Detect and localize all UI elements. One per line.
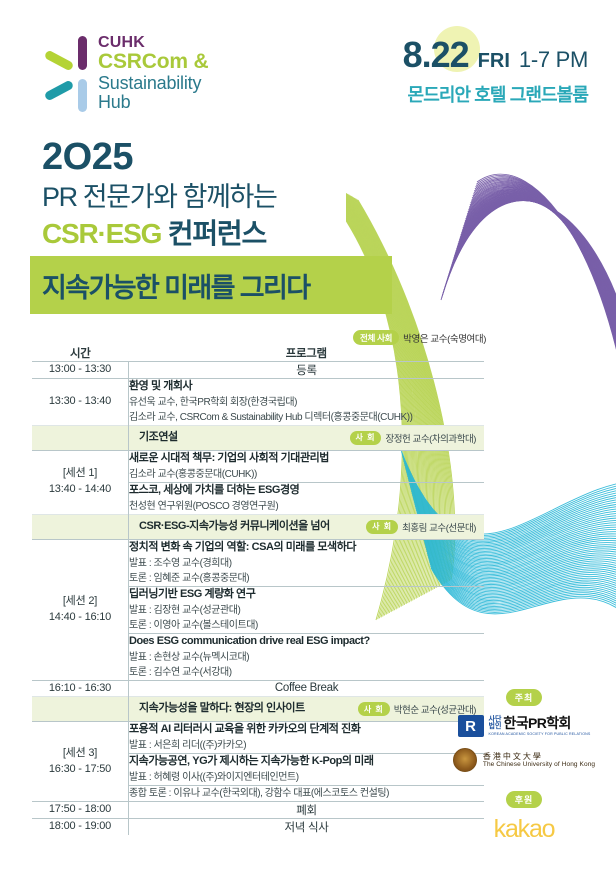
row-time: 16:10 - 16:30 <box>32 680 129 697</box>
program-title: 환영 및 개회사 <box>129 379 484 395</box>
row-program-cell: 새로운 시대적 책무: 기업의 사회적 기대관리법김소라 교수(홍콩중문대(CU… <box>129 450 485 482</box>
row-time <box>32 697 129 722</box>
table-header-row: 시간프로그램 <box>32 345 484 362</box>
row-program-cell: 딥러닝기반 ESG 계량화 연구발표 : 김장현 교수(성균관대)토론 : 이영… <box>129 586 485 633</box>
row-program-cell: 정치적 변화 속 기업의 역할: CSA의 미래를 모색하다발표 : 조수영 교… <box>129 539 485 586</box>
event-venue: 몬드리안 호텔 그랜드볼룸 <box>403 81 588 107</box>
program-speaker: 김소라 교수(홍콩중문대(CUHK)) <box>129 467 484 482</box>
row-program-cell: Does ESG communication drive real ESG im… <box>129 633 485 680</box>
host-badge: 주최 <box>506 689 543 706</box>
row-program-center: Coffee Break <box>129 680 485 697</box>
table-row: 13:30 - 13:40환영 및 개회사유선욱 교수, 한국PR학회 회장(한… <box>32 379 484 426</box>
poster-header: CUHK CSRCom & Sustainability Hub 8.22 FR… <box>0 0 616 135</box>
row-program-center: 폐회 <box>129 802 485 819</box>
session-header-cell: CSR·ESG-지속가능성 커뮤니케이션을 넘어사 회최홍림 교수(선문대) <box>129 515 484 539</box>
cuhk-logo: 香港中文大學 The Chinese University of Hong Ko… <box>454 748 594 772</box>
sponsors-block: 주최 R 사단법인한국PR학회 KOREAN ACADEMIC SOCIETY … <box>454 688 594 844</box>
row-time: 18:00 - 19:00 <box>32 819 129 836</box>
cuhk-name-english: The Chinese University of Hong Kong <box>483 761 595 768</box>
overall-mc-badge: 전체 사회 <box>353 330 399 345</box>
event-weekday: FRI <box>478 50 510 73</box>
session-chair-badge: 사 회 <box>350 431 382 445</box>
kpr-name-english: KOREAN ACADEMIC SOCIETY FOR PUBLIC RELAT… <box>489 733 591 737</box>
title-slogan-band: 지속가능한 미래를 그리다 <box>30 256 392 314</box>
session-chair: 사 회장정헌 교수(차의과학대) <box>350 431 476 445</box>
cuhk-name-chinese: 香港中文大學 <box>483 752 595 761</box>
overall-mc-line: 전체 사회 박영은 교수(숙명여대) <box>0 330 486 345</box>
row-time: [세션 2]14:40 - 16:10 <box>32 539 129 680</box>
session-chair: 사 회최홍림 교수(선문대) <box>366 520 476 534</box>
title-year: 2O25 <box>42 138 276 178</box>
program-title: 새로운 시대적 책무: 기업의 사회적 기대관리법 <box>129 451 484 467</box>
program-table: 시간프로그램13:00 - 13:30등록13:30 - 13:40환영 및 개… <box>32 345 484 835</box>
row-program-cell: 환영 및 개회사유선욱 교수, 한국PR학회 회장(한경국립대)김소라 교수, … <box>129 379 485 426</box>
program-speaker: 발표 : 손현상 교수(뉴멕시코대) <box>129 650 484 665</box>
kpr-name: 한국PR학회 <box>503 715 570 731</box>
header-time: 시간 <box>32 345 129 362</box>
program-title: 포용적 AI 리터러시 교육을 위한 카카오의 단계적 진화 <box>129 722 484 738</box>
support-badge: 후원 <box>506 791 543 808</box>
program-speaker: 유선욱 교수, 한국PR학회 회장(한경국립대) <box>129 395 484 410</box>
session-header-cell: 지속가능성을 말하다: 현장의 인사이트사 회박현순 교수(성균관대) <box>129 697 484 721</box>
program-title: 정치적 변화 속 기업의 역할: CSA의 미래를 모색하다 <box>129 540 484 556</box>
logo-line-hub: Hub <box>98 93 208 112</box>
session-title: 지속가능성을 말하다: 현장의 인사이트 <box>139 701 305 717</box>
table-row: [세션 1]13:40 - 14:40새로운 시대적 책무: 기업의 사회적 기… <box>32 450 484 482</box>
hub-logo-text: CUHK CSRCom & Sustainability Hub <box>98 34 208 113</box>
logo-bar-teal-icon <box>44 79 75 101</box>
row-time <box>32 514 129 539</box>
session-title: CSR·ESG-지속가능성 커뮤니케이션을 넘어 <box>139 519 330 535</box>
table-row: 18:00 - 19:00저녁 식사 <box>32 819 484 836</box>
session-title: 기조연설 <box>139 430 178 446</box>
row-program-cell: 지속가능공연, YG가 제시하는 지속가능한 K-Pop의 미래발표 : 허혜령… <box>129 754 485 786</box>
title-main-accent: CSR·ESG <box>42 218 161 249</box>
session-chair-badge: 사 회 <box>358 702 390 716</box>
row-program-cell: 종합 토론 : 이유나 교수(한국외대), 강함수 대표(에스코토스 컨설팅) <box>129 786 485 802</box>
overall-mc-name: 박영은 교수(숙명여대) <box>403 331 486 345</box>
cuhk-seal-icon <box>453 748 477 772</box>
title-main-rest: 컨퍼런스 <box>161 218 266 249</box>
row-time: [세션 1]13:40 - 14:40 <box>32 450 129 514</box>
program-speaker: 발표 : 서은희 리더((주)카카오) <box>129 738 484 753</box>
row-time: 13:30 - 13:40 <box>32 379 129 426</box>
hub-logo-mark-icon <box>42 34 92 116</box>
logo-line-cuhk: CUHK <box>98 34 208 51</box>
row-program-center: 등록 <box>129 362 485 379</box>
session-header-row: 지속가능성을 말하다: 현장의 인사이트사 회박현순 교수(성균관대) <box>32 697 484 722</box>
row-time: 13:00 - 13:30 <box>32 362 129 379</box>
table-row: [세션 3]16:30 - 17:50포용적 AI 리터러시 교육을 위한 카카… <box>32 722 484 754</box>
program-title: 지속가능공연, YG가 제시하는 지속가능한 K-Pop의 미래 <box>129 754 484 770</box>
logo-bar-green-icon <box>44 49 75 71</box>
program-speaker: 토론 : 이영아 교수(볼스테이트대) <box>129 618 484 633</box>
table-row: 17:50 - 18:00폐회 <box>32 802 484 819</box>
poster-title: 2O25 PR 전문가와 함께하는 CSR·ESG 컨퍼런스 <box>42 138 276 252</box>
row-program-center: 저녁 식사 <box>129 819 485 836</box>
row-time <box>32 425 129 450</box>
logo-line-csrcom: CSRCom & <box>98 51 208 74</box>
program-speaker: 토론 : 임혜준 교수(홍콩중문대) <box>129 571 484 586</box>
program-speaker: 김소라 교수, CSRCom & Sustainability Hub 디렉터(… <box>129 410 484 425</box>
event-date: 8.22 <box>403 34 469 76</box>
session-header-cell: 기조연설사 회장정헌 교수(차의과학대) <box>129 426 484 450</box>
program-speaker: 발표 : 김장현 교수(성균관대) <box>129 603 484 618</box>
event-time: 1-7 PM <box>519 47 588 73</box>
table-row: [세션 2]14:40 - 16:10정치적 변화 속 기업의 역할: CSA의… <box>32 539 484 586</box>
logo-bar-blue-icon <box>78 79 87 112</box>
program-title: 포스코, 세상에 가치를 더하는 ESG경영 <box>129 483 484 499</box>
session-chair-badge: 사 회 <box>366 520 398 534</box>
session-header-row: 기조연설사 회장정헌 교수(차의과학대) <box>32 425 484 450</box>
table-row: 16:10 - 16:30Coffee Break <box>32 680 484 697</box>
conference-poster: CUHK CSRCom & Sustainability Hub 8.22 FR… <box>0 0 616 871</box>
title-main: CSR·ESG 컨퍼런스 <box>42 216 276 252</box>
table-row: 13:00 - 13:30등록 <box>32 362 484 379</box>
program-speaker: 천성현 연구위원(POSCO 경영연구원) <box>129 499 484 514</box>
event-date-block: 8.22 FRI 1-7 PM 몬드리안 호텔 그랜드볼룸 <box>403 34 588 107</box>
row-program-cell: 포스코, 세상에 가치를 더하는 ESG경영천성현 연구위원(POSCO 경영연… <box>129 482 485 514</box>
kpr-mark-icon: R <box>458 715 484 737</box>
kakao-logo: kakao <box>454 815 594 844</box>
row-time: [세션 3]16:30 - 17:50 <box>32 722 129 802</box>
row-time: 17:50 - 18:00 <box>32 802 129 819</box>
support-section: 후원 kakao <box>454 790 594 844</box>
session-header-row: CSR·ESG-지속가능성 커뮤니케이션을 넘어사 회최홍림 교수(선문대) <box>32 514 484 539</box>
program-speaker: 토론 : 김수연 교수(서강대) <box>129 665 484 680</box>
program-speaker: 발표 : 조수영 교수(경희대) <box>129 556 484 571</box>
program-title: Does ESG communication drive real ESG im… <box>129 634 484 650</box>
program-title: 딥러닝기반 ESG 계량화 연구 <box>129 587 484 603</box>
program-speaker: 종합 토론 : 이유나 교수(한국외대), 강함수 대표(에스코토스 컨설팅) <box>129 786 484 801</box>
session-chair-name: 장정헌 교수(차의과학대) <box>385 431 476 445</box>
logo-bar-purple-icon <box>78 36 87 70</box>
header-program: 프로그램 <box>129 345 485 362</box>
kpr-corporate-prefix: 사단법인 <box>489 716 502 731</box>
session-chair-name: 최홍림 교수(선문대) <box>402 520 476 534</box>
row-program-cell: 포용적 AI 리터러시 교육을 위한 카카오의 단계적 진화발표 : 서은희 리… <box>129 722 485 754</box>
hub-logo: CUHK CSRCom & Sustainability Hub <box>42 34 208 116</box>
logo-line-sustainability: Sustainability <box>98 74 208 93</box>
title-slogan: 지속가능한 미래를 그리다 <box>42 266 309 305</box>
program-speaker: 발표 : 허혜령 이사((주)와이지엔터테인먼트) <box>129 770 484 785</box>
korean-pr-society-logo: R 사단법인한국PR학회 KOREAN ACADEMIC SOCIETY FOR… <box>454 715 594 737</box>
title-subtitle: PR 전문가와 함께하는 <box>42 180 276 215</box>
